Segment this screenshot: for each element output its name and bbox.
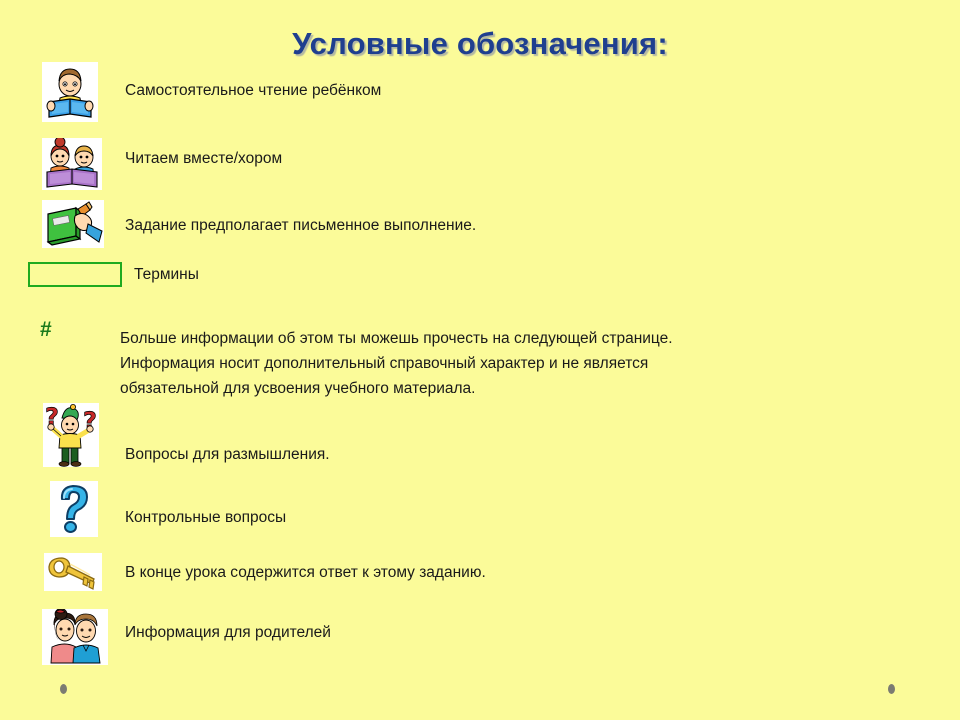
legend-row-parents-info: Информация для родителей: [125, 622, 331, 644]
paragraph-line-1: Больше информации об этом ты можешь проч…: [120, 326, 920, 351]
boy-with-question-marks-icon: ? ?: [43, 403, 99, 467]
decorative-dot-right: [888, 684, 895, 694]
legend-label-written-task: Задание предполагает письменное выполнен…: [125, 215, 476, 237]
slide-canvas: Условные обозначения:: [0, 0, 960, 720]
legend-row-control-questions: Контрольные вопросы: [125, 507, 286, 529]
boy-reading-book-icon: [42, 62, 98, 122]
notebook-with-pencil-icon: [42, 200, 104, 248]
hash-symbol-icon: #: [40, 318, 52, 342]
page-title: Условные обозначения:: [0, 26, 960, 62]
legend-label-terms: Термины: [134, 264, 199, 286]
legend-row-read-together: Читаем вместе/хором: [125, 148, 282, 170]
legend-paragraph-more-info: Больше информации об этом ты можешь проч…: [120, 326, 920, 401]
empty-green-rectangle-icon: [28, 262, 122, 287]
blue-question-mark-icon: [50, 481, 98, 537]
legend-label-parents-info: Информация для родителей: [125, 622, 331, 644]
paragraph-line-3: обязательной для усвоения учебного матер…: [120, 376, 920, 401]
golden-key-icon: [44, 553, 102, 591]
legend-label-read-together: Читаем вместе/хором: [125, 148, 282, 170]
legend-row-reflection-questions: Вопросы для размышления.: [125, 444, 330, 466]
legend-label-self-reading: Самостоятельное чтение ребёнком: [125, 80, 381, 102]
legend-label-reflection-questions: Вопросы для размышления.: [125, 444, 330, 466]
legend-row-written-task: Задание предполагает письменное выполнен…: [125, 215, 476, 237]
legend-label-control-questions: Контрольные вопросы: [125, 507, 286, 529]
paragraph-line-2: Информация носит дополнительный справочн…: [120, 351, 920, 376]
legend-label-answer-key: В конце урока содержится ответ к этому з…: [125, 562, 486, 584]
legend-row-self-reading: Самостоятельное чтение ребёнком: [125, 80, 381, 102]
decorative-dot-left: [60, 684, 67, 694]
legend-row-terms: Термины: [134, 264, 199, 286]
legend-row-answer-key: В конце урока содержится ответ к этому з…: [125, 562, 486, 584]
two-children-reading-book-icon: [42, 138, 102, 190]
parents-couple-icon: [42, 609, 108, 665]
